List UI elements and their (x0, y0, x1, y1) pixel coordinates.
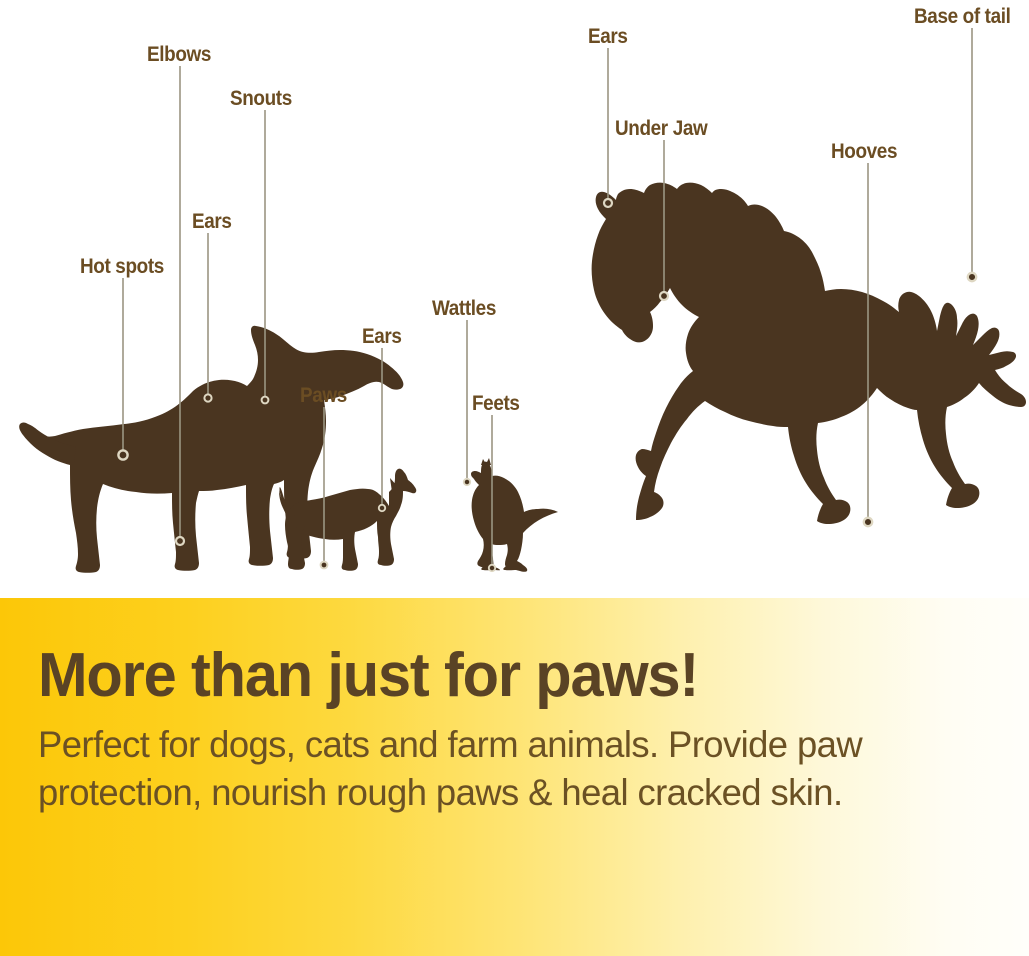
marker-elbows (176, 537, 184, 545)
callout-label-elbows: Elbows (147, 44, 211, 65)
marker-feets (489, 565, 495, 571)
marker-paws (321, 562, 328, 569)
marker-wattles (464, 479, 470, 485)
marker-base-of-tail (968, 273, 976, 281)
callout-label-hooves: Hooves (831, 141, 897, 162)
callout-label-hot-spots: Hot spots (80, 256, 164, 277)
callout-label-base-of-tail: Base of tail (914, 6, 1011, 27)
callout-label-snouts: Snouts (230, 88, 292, 109)
marker-ears-dog (204, 394, 211, 401)
screenshot-root: Hot spots Elbows Ears Snouts Paws Ears W… (0, 0, 1029, 956)
marker-hot-spots (118, 450, 127, 459)
callout-label-ears-dog: Ears (192, 211, 232, 232)
marker-hooves (864, 518, 872, 526)
callout-leader-lines (0, 0, 1029, 598)
callout-label-paws: Paws (300, 385, 347, 406)
animal-callout-illustration: Hot spots Elbows Ears Snouts Paws Ears W… (0, 0, 1029, 598)
marker-snouts (262, 397, 269, 404)
callout-label-ears-horse: Ears (588, 26, 628, 47)
callout-label-under-jaw: Under Jaw (615, 118, 707, 139)
marker-ears-cat (379, 505, 385, 511)
callout-label-feets: Feets (472, 393, 520, 414)
promo-content: More than just for paws! Perfect for dog… (38, 644, 988, 817)
callout-label-ears-cat: Ears (362, 326, 402, 347)
marker-under-jaw (660, 292, 668, 300)
marker-ears-horse (604, 199, 612, 207)
promo-heading: More than just for paws! (38, 644, 950, 707)
promo-banner: More than just for paws! Perfect for dog… (0, 598, 1029, 956)
callout-label-wattles: Wattles (432, 298, 496, 319)
promo-body-text: Perfect for dogs, cats and farm animals.… (38, 721, 974, 817)
